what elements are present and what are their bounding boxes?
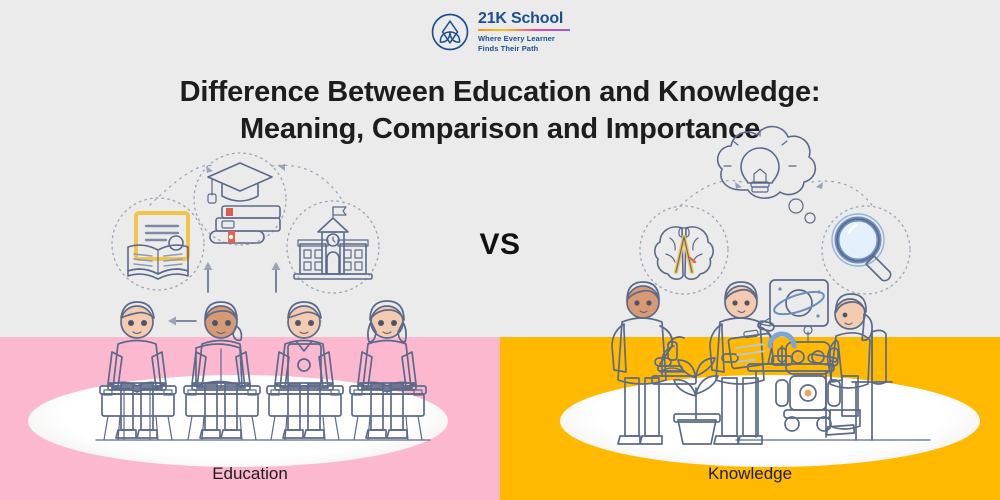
logo-tagline-line1: Where Every Learner (478, 34, 555, 43)
logo-gradient-rule (478, 29, 570, 31)
floor-ellipse-knowledge (560, 375, 980, 467)
caption-knowledge: Knowledge (500, 460, 1000, 488)
logo-name: 21K School (478, 11, 570, 27)
brand-logo[interactable]: 21K School Where Every Learner Finds The… (430, 10, 580, 54)
infographic-canvas: 21K School Where Every Learner Finds The… (0, 0, 1000, 500)
floor-ellipse-education (28, 375, 448, 467)
logo-tagline: Where Every Learner Finds Their Path (478, 34, 570, 52)
logo-wordmark: 21K School Where Every Learner Finds The… (478, 11, 570, 52)
logo-tagline-line2: Finds Their Path (478, 44, 538, 53)
versus-label: VS (450, 228, 550, 262)
page-title-line1: Difference Between Education and Knowled… (180, 76, 821, 108)
lotus-circle-icon (430, 12, 470, 52)
caption-education: Education (0, 460, 500, 488)
page-title: Difference Between Education and Knowled… (0, 74, 1000, 148)
page-title-line2: Meaning, Comparison and Importance (0, 111, 1000, 148)
